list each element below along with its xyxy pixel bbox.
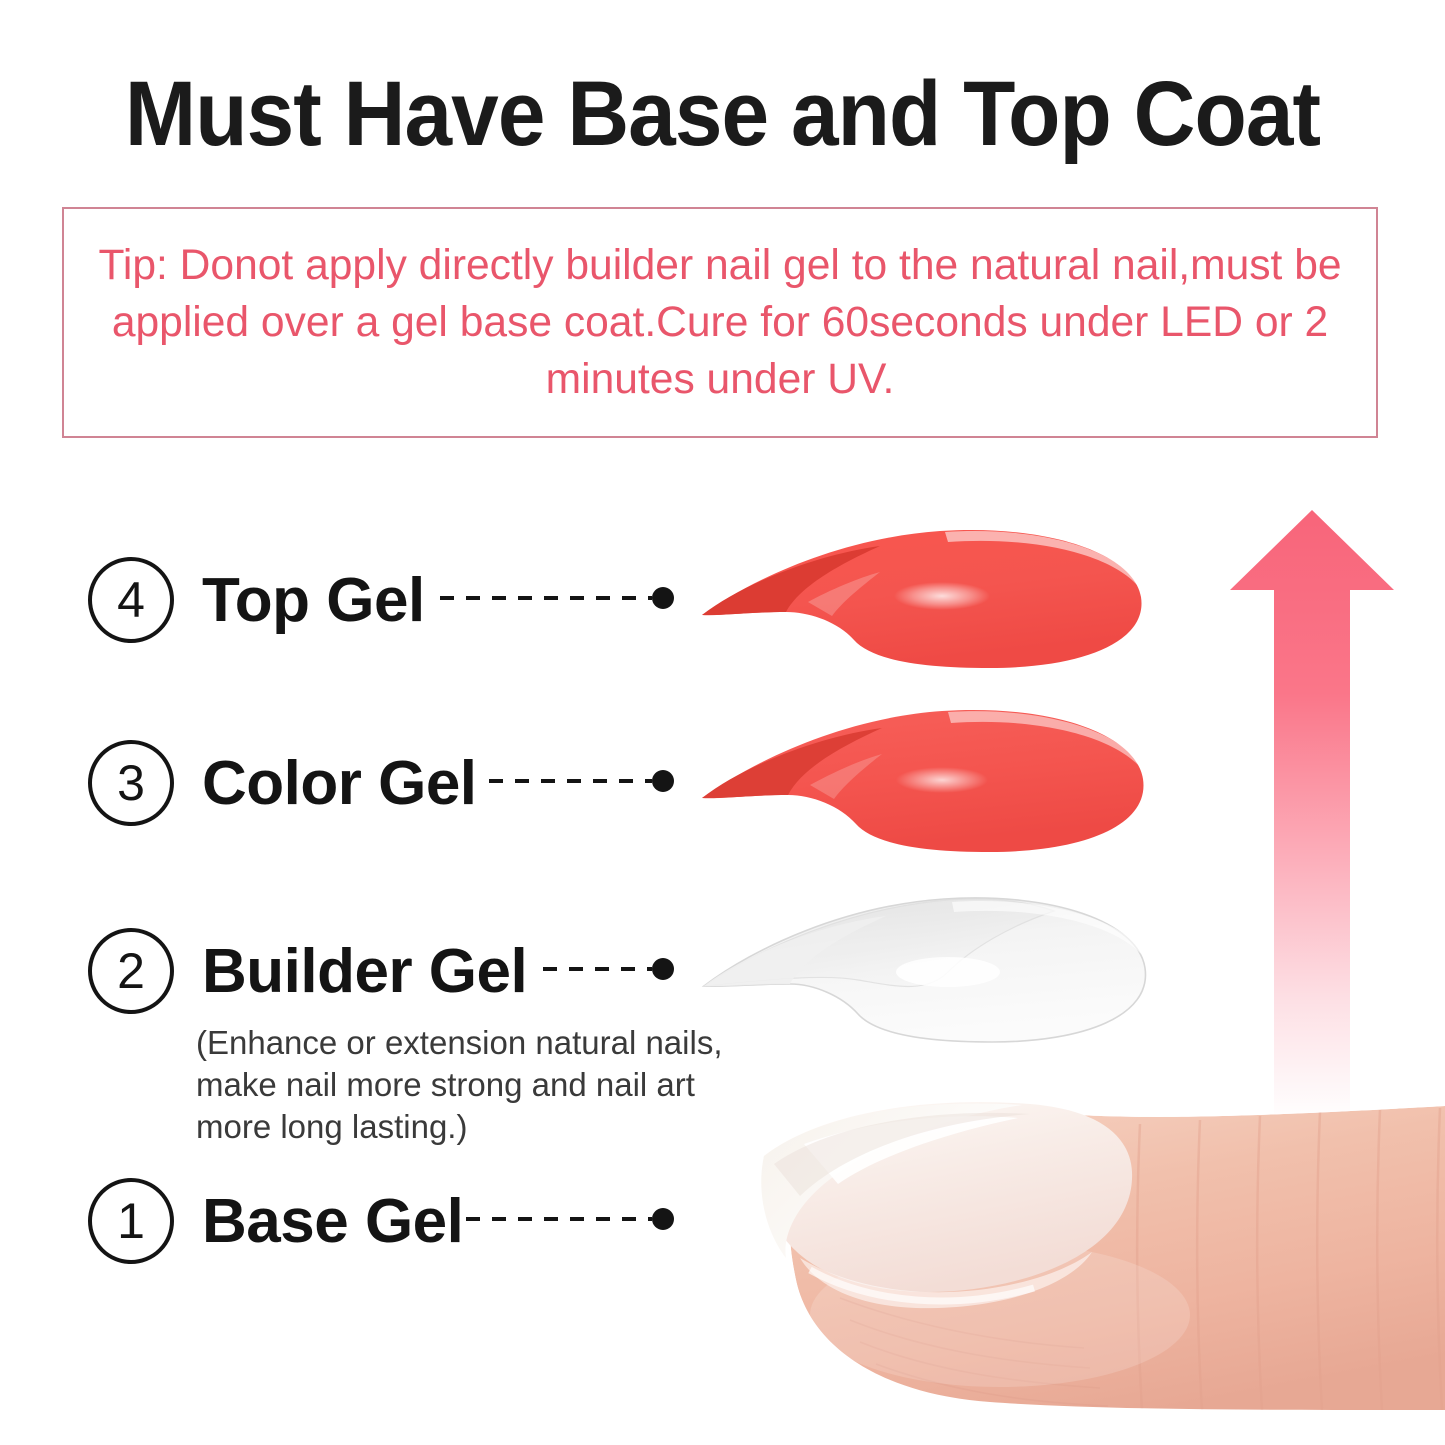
step-item-color-gel: 3 Color Gel [88,737,477,829]
step-label-base-gel: Base Gel [202,1186,463,1257]
step-label-color-gel: Color Gel [202,748,477,819]
builder-gel-swatch [690,890,1160,1060]
tip-text: Tip: Donot apply directly builder nail g… [71,237,1370,407]
step-item-builder-gel: 2 Builder Gel [88,925,527,1017]
builder-gel-note: (Enhance or extension natural nails, mak… [196,1022,756,1149]
step-label-top-gel: Top Gel [202,565,425,636]
leader-dot-2 [652,958,674,980]
step-item-top-gel: 4 Top Gel [88,554,425,646]
color-gel-swatch [690,700,1160,868]
step-item-base-gel: 1 Base Gel [88,1175,463,1267]
page-title: Must Have Base and Top Coat [51,62,1395,167]
leader-line-3 [489,779,652,783]
leader-line-1 [466,1217,652,1221]
leader-dot-3 [652,770,674,792]
tip-box: Tip: Donot apply directly builder nail g… [62,207,1378,438]
step-number-badge-3: 3 [88,740,174,826]
step-number-badge-2: 2 [88,928,174,1014]
top-gel-swatch [690,520,1160,680]
leader-dot-1 [652,1208,674,1230]
leader-dot-4 [652,587,674,609]
leader-line-4 [440,596,652,600]
step-label-builder-gel: Builder Gel [202,936,527,1007]
leader-line-2 [543,967,652,971]
finger-with-natural-nail-photo [700,1080,1445,1445]
upward-arrow-icon [1222,500,1402,1120]
step-number-badge-1: 1 [88,1178,174,1264]
step-number-badge-4: 4 [88,557,174,643]
